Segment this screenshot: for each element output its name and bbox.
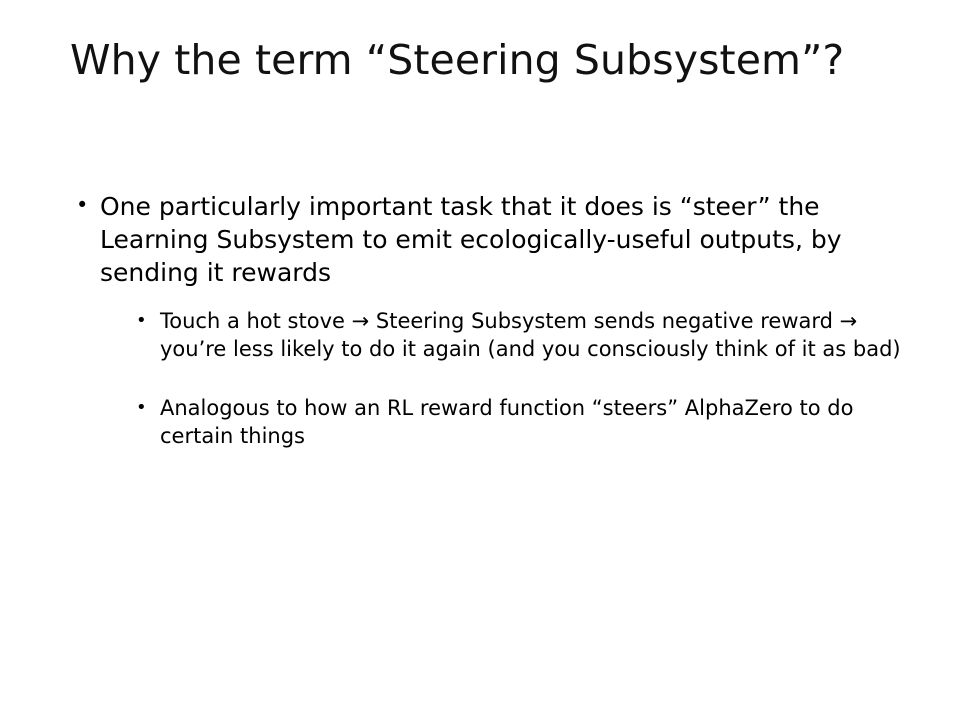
- bullet-list-level1: • One particularly important task that i…: [70, 190, 910, 450]
- bullet-text: One particularly important task that it …: [100, 190, 910, 289]
- slide-title: Why the term “Steering Subsystem”?: [70, 36, 900, 84]
- slide-body: • One particularly important task that i…: [70, 190, 910, 454]
- slide: Why the term “Steering Subsystem”? • One…: [0, 0, 960, 720]
- sub-bullet-item: • Analogous to how an RL reward function…: [132, 394, 910, 451]
- bullet-point-icon: •: [76, 190, 88, 222]
- bullet-item: • One particularly important task that i…: [70, 190, 910, 450]
- sub-bullet-item: • Touch a hot stove → Steering Subsystem…: [132, 307, 910, 364]
- sub-bullet-point-icon: •: [136, 307, 147, 334]
- sub-bullet-point-icon: •: [136, 394, 147, 421]
- sub-bullet-text: Analogous to how an RL reward function “…: [160, 394, 910, 451]
- sub-bullet-text: Touch a hot stove → Steering Subsystem s…: [160, 307, 910, 364]
- bullet-list-level2: • Touch a hot stove → Steering Subsystem…: [100, 307, 910, 450]
